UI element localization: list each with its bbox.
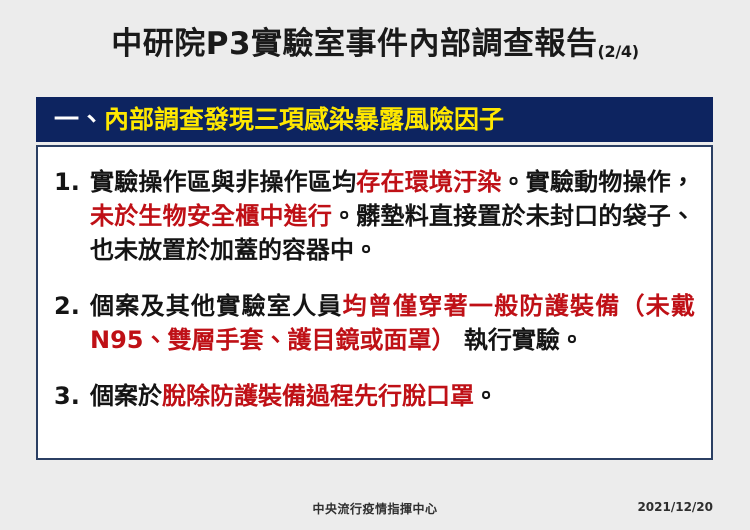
list-item: 3.個案於脫除防護裝備過程先行脫口罩。 <box>54 379 695 413</box>
plain-text: 個案及其他實驗室人員 <box>90 292 343 320</box>
list-item-text: 個案及其他實驗室人員均曾僅穿著一般防護裝備（未戴N95、雙層手套、護目鏡或面罩）… <box>90 289 695 357</box>
highlighted-text: 存在環境汙染 <box>356 168 501 196</box>
list-item-marker: 3. <box>54 379 90 413</box>
footer-date: 2021/12/20 <box>637 500 713 514</box>
slide-root: 中研院P3實驗室事件內部調查報告(2/4) 一、內部調查發現三項感染暴露風險因子… <box>0 0 750 530</box>
plain-text: 實驗操作區與非操作區均 <box>90 168 356 196</box>
section-heading: 內部調查發現三項感染暴露風險因子 <box>104 107 504 132</box>
list-item-marker: 2. <box>54 289 90 323</box>
plain-text: 執行實驗。 <box>455 326 583 354</box>
highlighted-text: 脫除防護裝備過程先行脫口罩 <box>162 382 474 410</box>
list-item-marker: 1. <box>54 165 90 199</box>
plain-text: 個案於 <box>90 382 162 410</box>
plain-text: 。 <box>474 382 498 410</box>
page-indicator: (2/4) <box>598 42 639 61</box>
list-item-text: 實驗操作區與非操作區均存在環境汙染。實驗動物操作，未於生物安全櫃中進行。髒墊料直… <box>90 165 695 267</box>
section-number: 一、 <box>54 107 104 132</box>
page-title: 中研院P3實驗室事件內部調查報告(2/4) <box>0 29 750 60</box>
list-item-text: 個案於脫除防護裝備過程先行脫口罩。 <box>90 379 695 413</box>
findings-list: 1.實驗操作區與非操作區均存在環境汙染。實驗動物操作，未於生物安全櫃中進行。髒墊… <box>54 165 695 413</box>
list-item: 1.實驗操作區與非操作區均存在環境汙染。實驗動物操作，未於生物安全櫃中進行。髒墊… <box>54 165 695 267</box>
section-header-bar: 一、內部調查發現三項感染暴露風險因子 <box>36 97 713 142</box>
findings-card: 1.實驗操作區與非操作區均存在環境汙染。實驗動物操作，未於生物安全櫃中進行。髒墊… <box>36 145 713 460</box>
plain-text: 。實驗動物操作， <box>502 168 695 196</box>
list-item: 2.個案及其他實驗室人員均曾僅穿著一般防護裝備（未戴N95、雙層手套、護目鏡或面… <box>54 289 695 357</box>
page-title-text: 中研院P3實驗室事件內部調查報告 <box>111 26 597 62</box>
highlighted-text: 未於生物安全櫃中進行 <box>90 202 332 230</box>
